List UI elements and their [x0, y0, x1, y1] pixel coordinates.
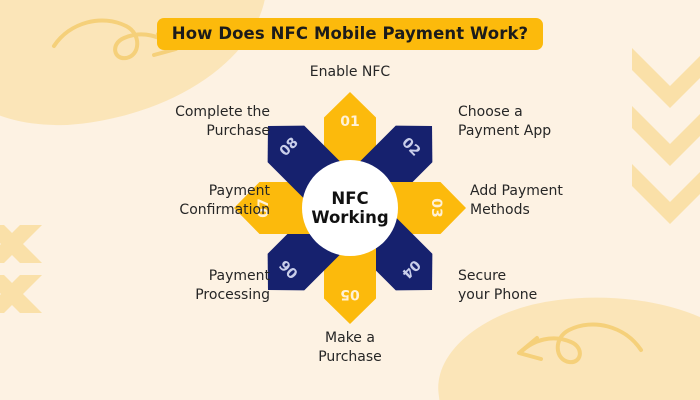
chevron-group-bottom-left-icon [0, 221, 72, 316]
step-label-01: Enable NFC [270, 63, 430, 82]
petal-number: 05 [324, 286, 376, 302]
step-label-04: Secure your Phone [458, 267, 598, 305]
step-label-03: Add Payment Methods [470, 182, 620, 220]
step-label-08: Complete the Purchase [100, 103, 270, 141]
center-hub: NFC Working [302, 160, 398, 256]
step-label-02: Choose a Payment App [458, 103, 598, 141]
hub-line-1: NFC [331, 189, 368, 208]
curly-arrow-bottom-right-icon [515, 318, 645, 388]
step-label-06: Payment Processing [110, 267, 270, 305]
step-label-05: Make a Purchase [270, 329, 430, 367]
infographic-canvas: How Does NFC Mobile Payment Work? 01 02 … [0, 0, 700, 400]
page-title: How Does NFC Mobile Payment Work? [157, 18, 543, 50]
step-label-07: Payment Confirmation [88, 182, 270, 220]
hub-line-2: Working [311, 208, 388, 227]
chevron-group-right-icon [624, 48, 700, 238]
title-banner: How Does NFC Mobile Payment Work? [0, 18, 700, 50]
petal-number: 03 [428, 182, 444, 234]
petal-number: 01 [324, 114, 376, 130]
